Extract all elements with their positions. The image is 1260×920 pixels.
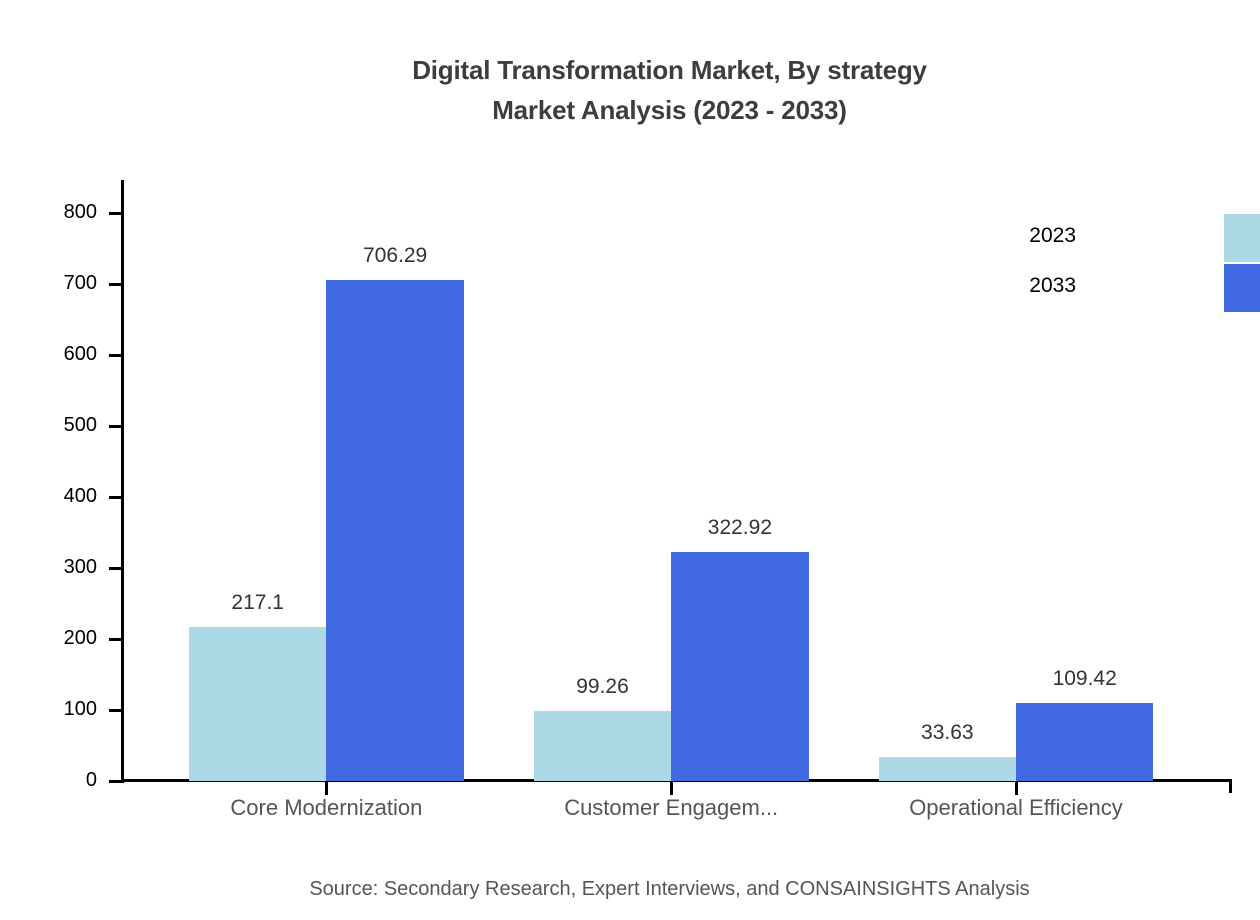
- y-tick-label-400: 400: [64, 486, 97, 506]
- y-tick-label-700: 700: [64, 273, 97, 293]
- x-axis-label-1: Customer Engagem...: [471, 795, 871, 821]
- plot-area: 217.1706.2999.26322.9233.63109.42: [121, 180, 1232, 781]
- bar-2033-0[interactable]: [326, 280, 463, 781]
- legend-label-2023: 2023: [1029, 224, 1076, 248]
- chart-title-line-2: Market Analysis (2023 - 2033): [0, 90, 1260, 130]
- bar-2033-1[interactable]: [671, 552, 808, 781]
- x-axis-label-0: Core Modernization: [126, 795, 526, 821]
- legend-swatch-2023: [1224, 214, 1260, 262]
- bar-value-label-2033-0: 706.29: [295, 244, 495, 268]
- bar-2033-2[interactable]: [1016, 703, 1153, 781]
- y-tick-label-100: 100: [64, 699, 97, 719]
- y-tick-label-200: 200: [64, 628, 97, 648]
- bar-2023-2[interactable]: [879, 757, 1016, 781]
- y-tick-label-300: 300: [64, 557, 97, 577]
- y-tick-label-500: 500: [64, 415, 97, 435]
- legend-label-2033: 2033: [1029, 274, 1076, 298]
- x-axis-end-cap: [1229, 779, 1232, 793]
- x-axis-label-2: Operational Efficiency: [816, 795, 1216, 821]
- x-tick-2: [1015, 781, 1018, 795]
- x-tick-0: [325, 781, 328, 795]
- bar-2023-1[interactable]: [534, 711, 671, 781]
- chart-title: Digital Transformation Market, By strate…: [0, 50, 1260, 130]
- source-note: Source: Secondary Research, Expert Inter…: [0, 878, 1260, 901]
- y-tick-label-800: 800: [64, 202, 97, 222]
- x-tick-1: [670, 781, 673, 795]
- y-tick-label-600: 600: [64, 344, 97, 364]
- bar-value-label-2033-2: 109.42: [985, 667, 1185, 691]
- legend-swatch-2033: [1224, 264, 1260, 312]
- bar-value-label-2033-1: 322.92: [640, 516, 840, 540]
- bar-2023-0[interactable]: [189, 627, 326, 781]
- y-tick-label-0: 0: [86, 770, 97, 790]
- chart-title-line-1: Digital Transformation Market, By strate…: [0, 50, 1260, 90]
